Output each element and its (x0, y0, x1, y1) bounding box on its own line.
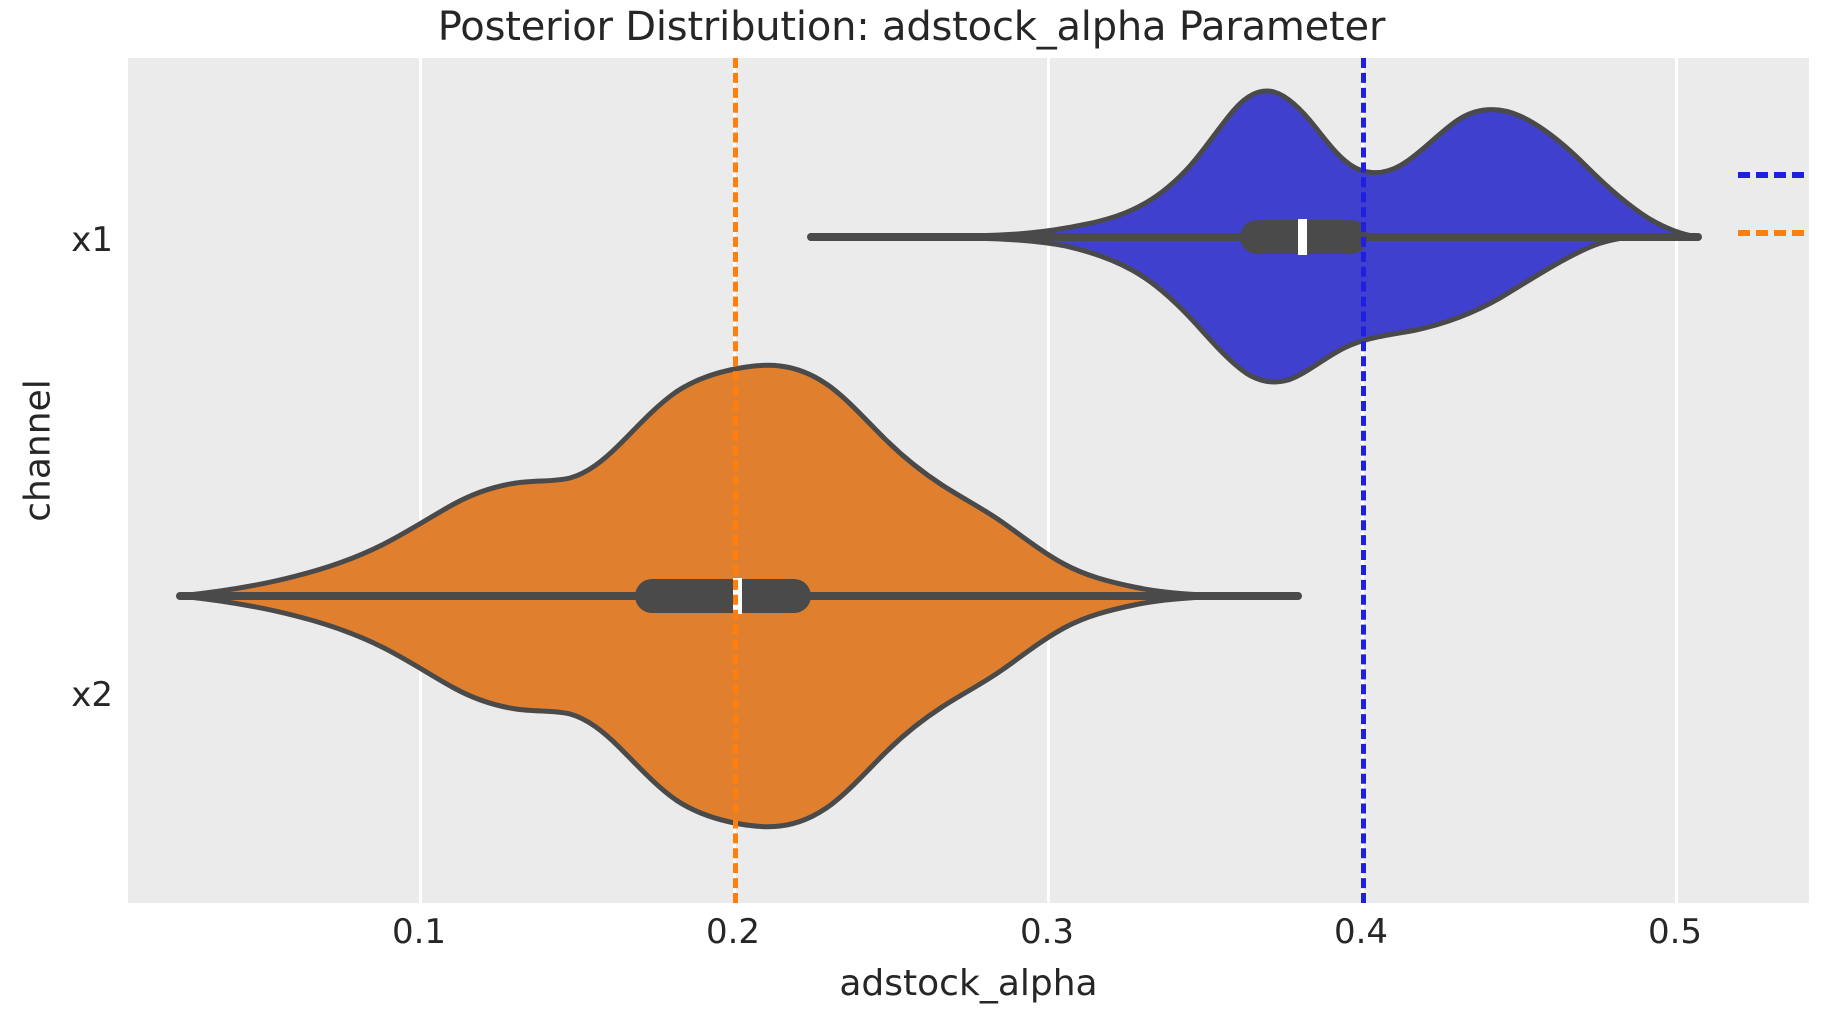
legend-item-alpha-2[interactable]: α2 (1738, 204, 1809, 262)
legend-item-alpha-1[interactable]: α1 (1738, 146, 1809, 204)
y-axis-label: channel (18, 321, 59, 581)
x-tick-label-2: 0.3 (1020, 912, 1074, 952)
x-tick-label-4: 0.5 (1648, 912, 1702, 952)
legend-dash-icon-alpha-1 (1738, 172, 1809, 178)
legend-dash-icon-alpha-2 (1738, 230, 1809, 236)
y-tick-label-x1: x1 (71, 220, 113, 260)
violin-plot-figure: Posterior Distribution: adstock_alpha Pa… (0, 0, 1823, 1023)
x-axis-label: adstock_alpha (128, 963, 1809, 1004)
y-tick-label-x2: x2 (71, 675, 113, 715)
box-x2 (635, 579, 811, 613)
violin-shapes (128, 58, 1809, 903)
plot-area: α1 α2 (128, 58, 1809, 903)
median-x1 (1298, 219, 1307, 255)
reference-line-alpha-1 (1361, 58, 1366, 903)
page-title: Posterior Distribution: adstock_alpha Pa… (0, 4, 1823, 50)
x-tick-label-3: 0.4 (1334, 912, 1388, 952)
x-tick-label-0: 0.1 (392, 912, 446, 952)
reference-line-alpha-2 (733, 58, 738, 903)
legend: α1 α2 (1738, 146, 1809, 262)
x-tick-label-1: 0.2 (706, 912, 760, 952)
